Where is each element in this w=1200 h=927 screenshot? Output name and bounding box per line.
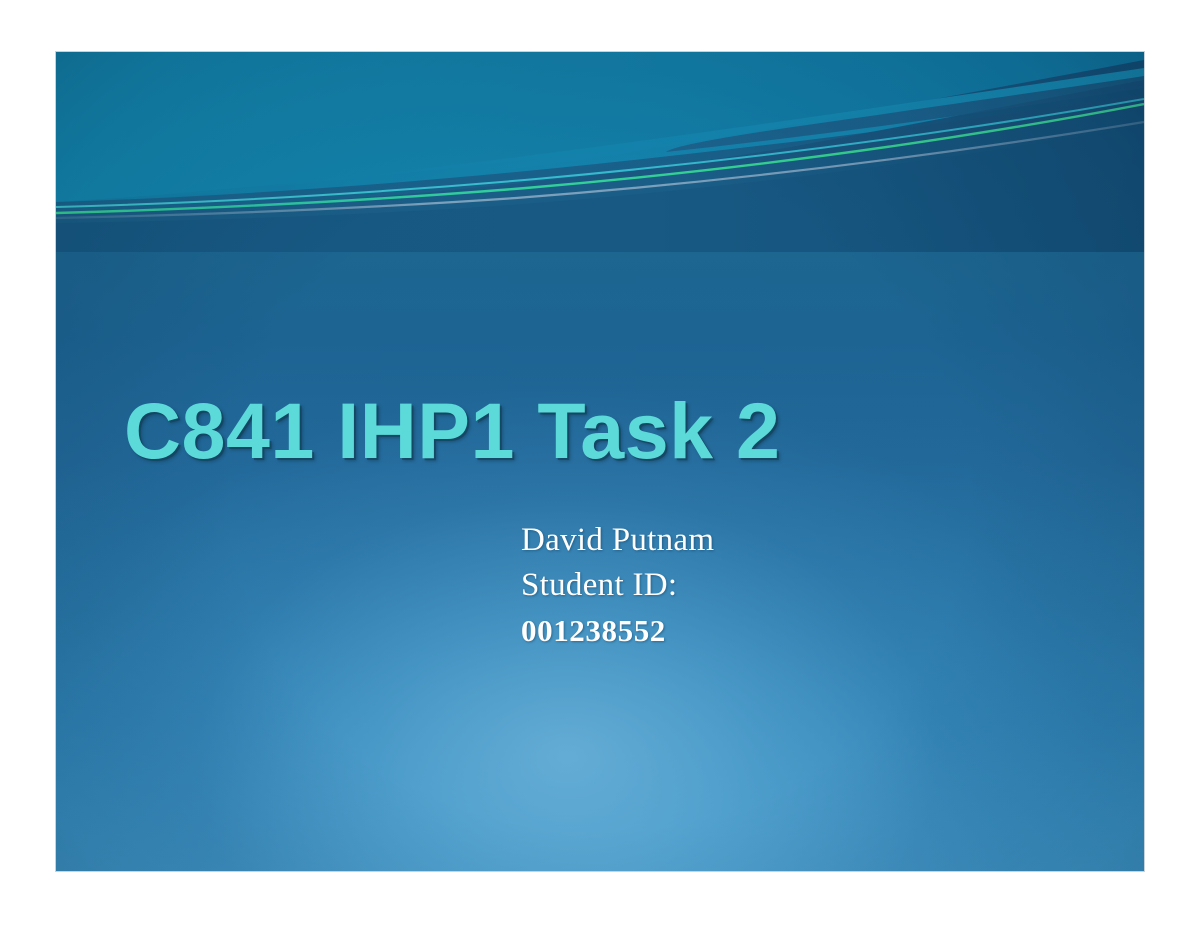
subtitle-student-id-number: 001238552 (521, 608, 1081, 653)
subtitle-author: David Putnam (521, 518, 1081, 563)
presentation-slide: C841 IHP1 Task 2 David Putnam Student ID… (55, 51, 1145, 872)
wave-band-deep-base (56, 60, 1144, 252)
wave-band-mid-teal (56, 68, 1144, 211)
wave-accent-line-cyan (56, 99, 1144, 207)
wave-band-teal-top (56, 52, 1144, 205)
wave-accent-line-green (56, 104, 1144, 213)
wave-accent-line-pale (56, 122, 1144, 218)
wave-band-navy-wedge-upper (666, 76, 1144, 152)
wave-svg (56, 52, 1144, 252)
wave-shadow-under-ribbon (56, 126, 1144, 252)
flow-ribbon-wave-graphic (56, 52, 1144, 252)
subtitle-student-id-label: Student ID: (521, 563, 1081, 608)
title-placeholder[interactable]: C841 IHP1 Task 2 (124, 385, 1064, 477)
slide-title: C841 IHP1 Task 2 (124, 385, 1064, 477)
page-canvas: C841 IHP1 Task 2 David Putnam Student ID… (0, 0, 1200, 927)
subtitle-placeholder[interactable]: David Putnam Student ID: 001238552 (521, 518, 1081, 653)
wave-band-navy-long (56, 94, 1144, 212)
